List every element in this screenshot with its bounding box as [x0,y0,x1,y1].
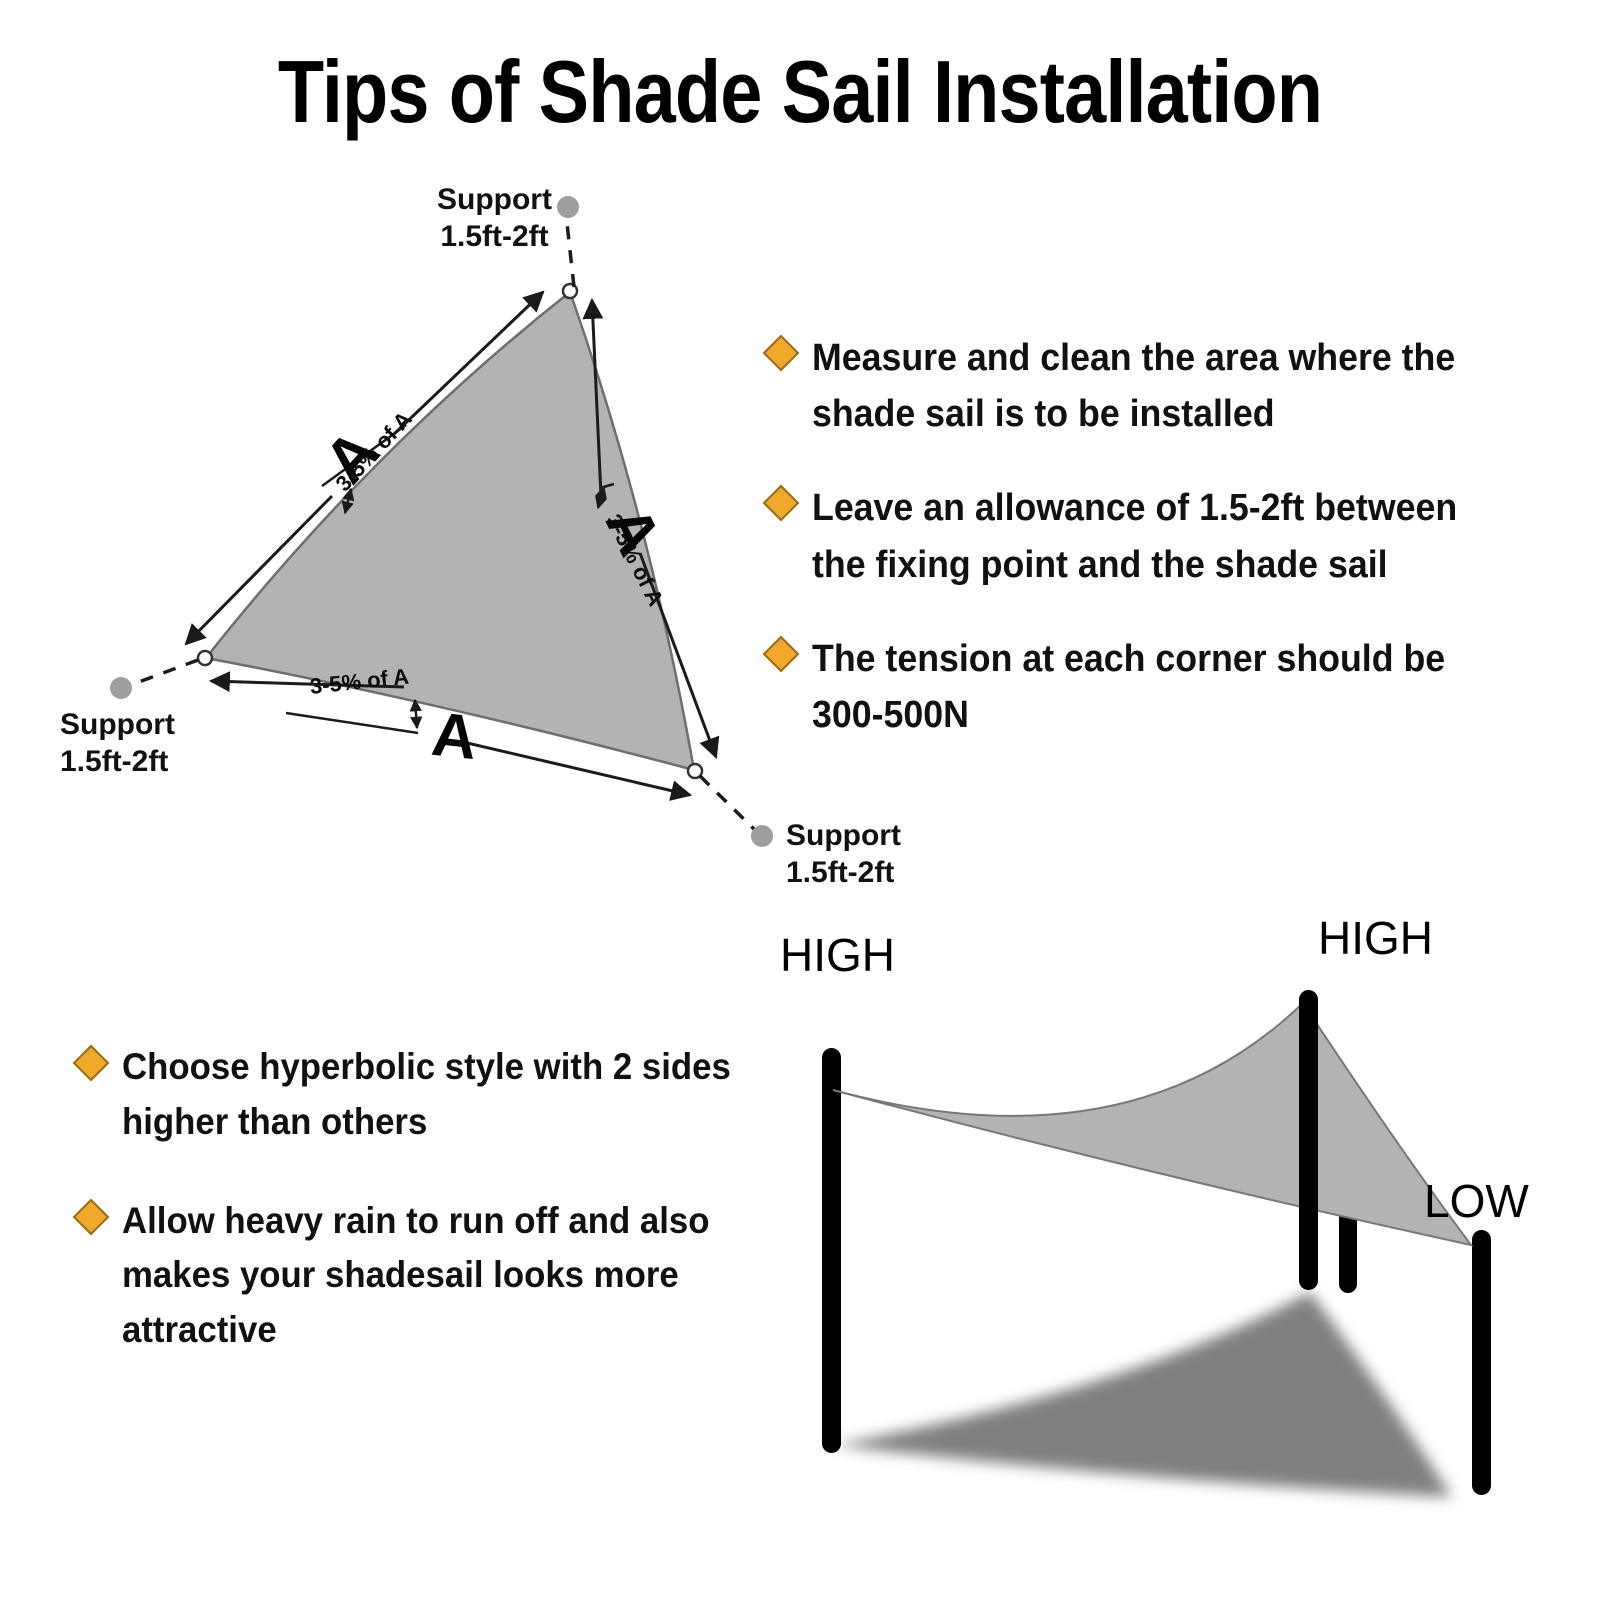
list-item: Choose hyperbolic style with 2 sides hig… [78,1040,778,1150]
infographic-page: Tips of Shade Sail Installation [0,0,1600,1600]
tip-text: Measure and clean the area where the sha… [812,330,1485,442]
pole-label-high-right: HIGH [1318,915,1433,961]
sail-ground-shadow [834,1292,1452,1497]
tips-list-right: Measure and clean the area where the sha… [768,330,1528,781]
tips-list-left: Choose hyperbolic style with 2 sides hig… [78,1040,778,1402]
pole-middle [1339,1133,1357,1293]
pole-label-low-right: LOW [1424,1178,1529,1224]
tip-text: Allow heavy rain to run off and also mak… [122,1194,739,1358]
page-title: Tips of Shade Sail Installation [112,48,1488,136]
diamond-icon [73,1045,110,1082]
list-item: Leave an allowance of 1.5-2ft between th… [768,480,1528,592]
support-label-left: Support 1.5ft-2ft [60,707,175,780]
diamond-icon [763,335,800,372]
tip-text: Choose hyperbolic style with 2 sides hig… [122,1040,739,1150]
support-label-bottom: Support 1.5ft-2ft [786,818,901,891]
pole-high-right [1299,990,1318,1290]
pole-high-left [822,1048,841,1453]
list-item: Allow heavy rain to run off and also mak… [78,1194,778,1358]
list-item: The tension at each corner should be 300… [768,631,1528,743]
edge-label-a-bottom: A [429,704,480,770]
diamond-icon [763,485,800,522]
curve-label-bottom: 3-5% of A [309,666,410,698]
list-item: Measure and clean the area where the sha… [768,330,1528,442]
hyperbolic-sail-surface [833,1003,1471,1245]
tip-text: The tension at each corner should be 300… [812,631,1485,743]
diamond-icon [73,1198,110,1235]
diamond-icon [763,636,800,673]
pole-low-right [1472,1230,1491,1495]
pole-label-high-left: HIGH [780,932,895,978]
support-label-top: Support 1.5ft-2ft [437,182,552,255]
tip-text: Leave an allowance of 1.5-2ft between th… [812,480,1485,592]
